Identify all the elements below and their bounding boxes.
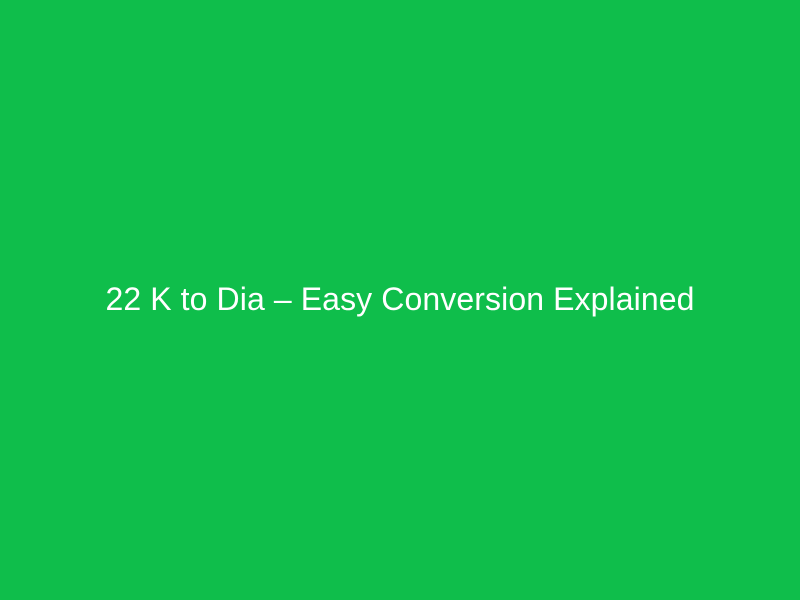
card-title: 22 K to Dia – Easy Conversion Explained xyxy=(105,280,694,319)
share-card: 22 K to Dia – Easy Conversion Explained xyxy=(0,0,800,600)
